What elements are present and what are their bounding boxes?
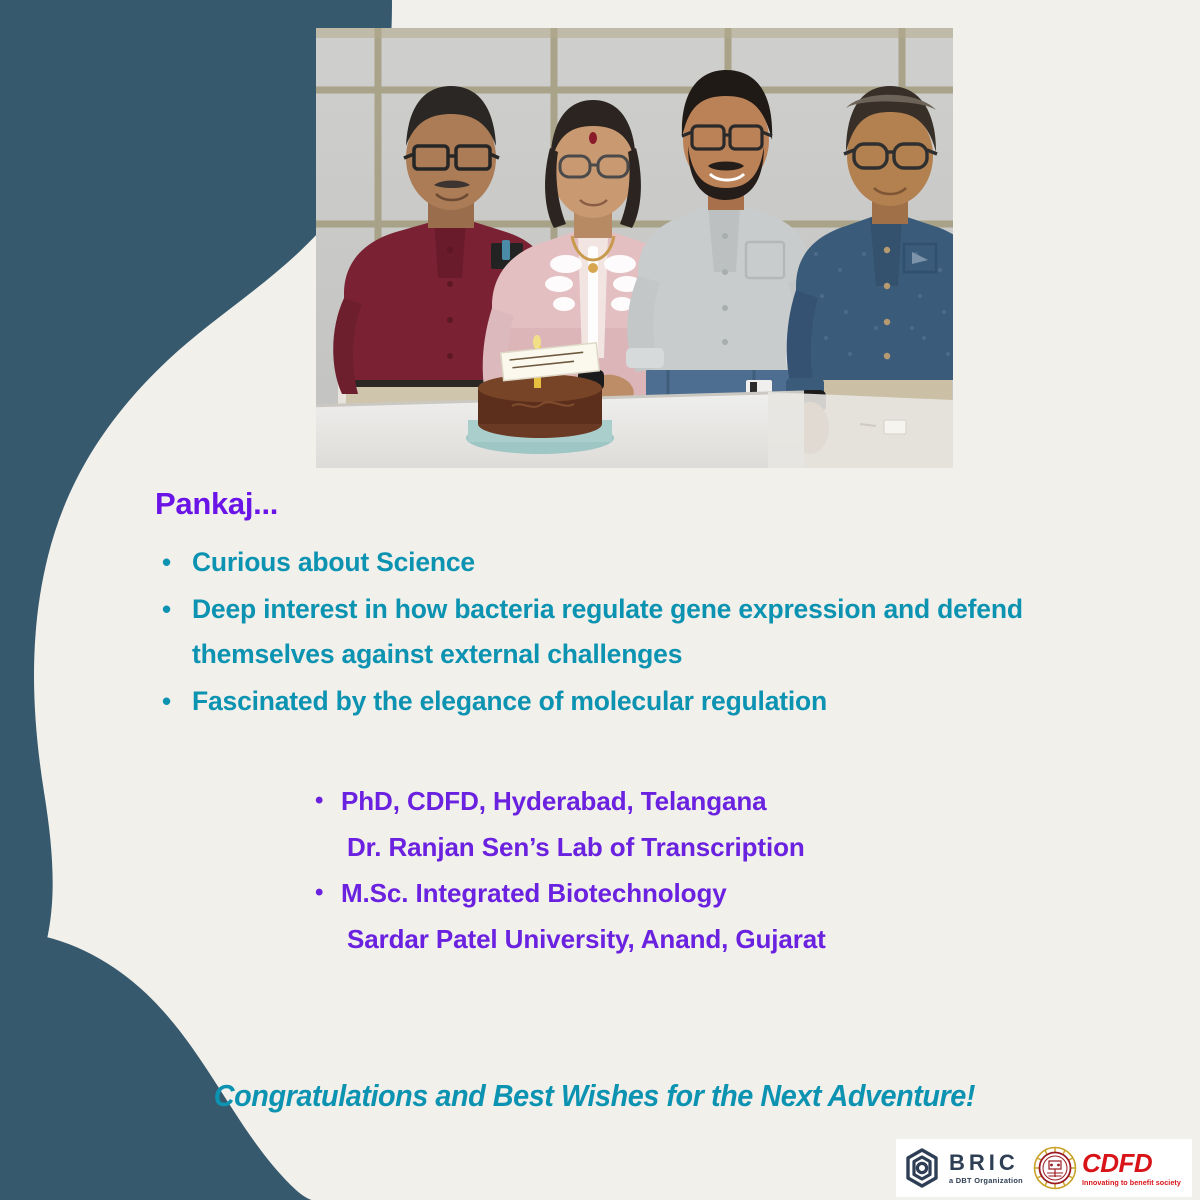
trait-text: Curious about Science	[192, 547, 475, 577]
group-photo	[316, 28, 953, 468]
list-item: • PhD, CDFD, Hyderabad, Telangana Dr. Ra…	[305, 778, 1065, 870]
list-item: • Fascinated by the elegance of molecula…	[152, 679, 1112, 724]
bullet-icon: •	[162, 540, 171, 585]
list-item: • M.Sc. Integrated Biotechnology Sardar …	[305, 870, 1065, 962]
bric-tagline: a DBT Organization	[949, 1177, 1023, 1184]
blob-bottom-left	[0, 932, 312, 1200]
education-primary: PhD, CDFD, Hyderabad, Telangana	[341, 786, 767, 816]
trait-text: Fascinated by the elegance of molecular …	[192, 686, 827, 716]
bullet-icon: •	[315, 870, 323, 916]
list-item: • Deep interest in how bacteria regulate…	[152, 587, 1112, 677]
bullet-icon: •	[162, 679, 171, 724]
trait-text: Deep interest in how bacteria regulate g…	[192, 594, 1023, 669]
bullet-icon: •	[315, 778, 323, 824]
education-secondary: Dr. Ranjan Sen’s Lab of Transcription	[341, 824, 1065, 870]
poster-canvas: Pankaj... • Curious about Science • Deep…	[0, 0, 1200, 1200]
traits-list: • Curious about Science • Deep interest …	[152, 540, 1112, 726]
page-title: Pankaj...	[155, 486, 278, 522]
education-list: • PhD, CDFD, Hyderabad, Telangana Dr. Ra…	[305, 778, 1065, 962]
education-primary: M.Sc. Integrated Biotechnology	[341, 878, 727, 908]
cdfd-tagline: Innovating to benefit society	[1082, 1179, 1181, 1186]
logo-bar: BRIC a DBT Organization	[896, 1139, 1192, 1197]
congratulations-message: Congratulations and Best Wishes for the …	[42, 1078, 1158, 1114]
list-item: • Curious about Science	[152, 540, 1112, 585]
bric-wordmark: BRIC	[949, 1152, 1023, 1174]
bric-logo: BRIC a DBT Organization	[902, 1148, 1023, 1188]
bullet-icon: •	[162, 587, 171, 632]
cdfd-wordmark: CDFD	[1082, 1150, 1181, 1176]
hexagon-ring-icon	[902, 1148, 942, 1188]
cdfd-emblem-icon	[1033, 1146, 1077, 1190]
cdfd-logo: CDFD Innovating to benefit society	[1033, 1146, 1181, 1190]
education-secondary: Sardar Patel University, Anand, Gujarat	[341, 916, 1065, 962]
